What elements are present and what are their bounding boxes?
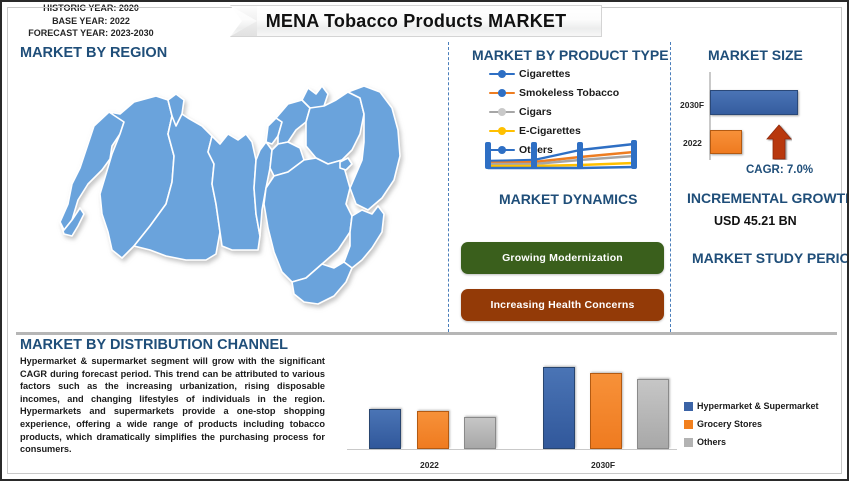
divider-vertical-right [670,42,671,332]
market-size-label-2022: 2022 [683,138,702,148]
legend-item: Hypermarket & Supermarket [684,401,849,411]
legend-marker-smokeless-tobacco-icon [489,87,515,99]
divider-horizontal [16,332,837,335]
distribution-channel-paragraph: Hypermarket & supermarket segment will g… [20,355,325,456]
legend-item: Cigarettes [489,65,649,82]
distribution-channel-bar-chart: 2022 2030F [347,352,677,474]
legend-label: Others [697,437,726,447]
market-by-distribution-channel-heading: MARKET BY DISTRIBUTION CHANNEL [20,337,288,353]
legend-marker-cigarettes-icon [489,68,515,80]
legend-swatch-hypermarket-icon [684,402,693,411]
bar-2030-hypermarket [543,367,575,449]
mena-region-map [16,64,436,326]
legend-label: E-Cigarettes [519,125,581,137]
legend-label: Cigars [519,106,552,118]
market-size-bar-2022 [710,130,742,154]
page-title: MENA Tobacco Products MARKET [230,5,602,37]
dynamics-restraint-badge[interactable]: Increasing Health Concerns [461,289,664,321]
distribution-channel-legend: Hypermarket & Supermarket Grocery Stores… [684,401,849,455]
legend-label: Smokeless Tobacco [519,87,619,99]
base-year: BASE YEAR: 2022 [2,15,180,28]
legend-item: Cigars [489,103,649,120]
dynamics-driver-badge[interactable]: Growing Modernization [461,242,664,274]
market-study-period-details: HISTORIC YEAR: 2020 BASE YEAR: 2022 FORE… [2,2,180,40]
legend-label: Hypermarket & Supermarket [697,401,819,411]
legend-item: E-Cigarettes [489,122,649,139]
bar-chart-xlabel-2030f: 2030F [591,460,615,470]
market-dynamics-heading: MARKET DYNAMICS [499,191,637,207]
market-size-heading: MARKET SIZE [708,47,803,63]
legend-marker-cigars-icon [489,106,515,118]
incremental-growth-value: USD 45.21 BN [714,214,797,228]
growth-arrow-icon [766,124,792,160]
market-size-chart: 2030F 2022 [680,68,848,178]
bar-2022-hypermarket [369,409,401,449]
legend-swatch-others-icon [684,438,693,447]
bar-2022-others [464,417,496,449]
legend-item: Smokeless Tobacco [489,84,649,101]
bar-chart-baseline [347,449,677,451]
legend-item: Grocery Stores [684,419,849,429]
bar-2030-others [637,379,669,449]
market-by-product-type-heading: MARKET BY PRODUCT TYPE [472,47,669,63]
legend-label: Grocery Stores [697,419,762,429]
bar-chart-xlabel-2022: 2022 [420,460,439,470]
bar-2022-grocery [417,411,449,449]
historic-year: HISTORIC YEAR: 2020 [2,2,180,15]
cagr-value: CAGR: 7.0% [746,164,813,176]
market-study-period-heading: MARKET STUDY PERIOD [692,250,849,266]
infographic-canvas: MENA Tobacco Products MARKET MARKET BY R… [0,0,849,481]
forecast-year: FORECAST YEAR: 2023-2030 [2,27,180,40]
legend-item: Others [684,437,849,447]
legend-marker-e-cigarettes-icon [489,125,515,137]
incremental-growth-heading: INCREMENTAL GROWTH [687,190,849,206]
legend-label: Cigarettes [519,68,570,80]
legend-swatch-grocery-icon [684,420,693,429]
market-by-region-heading: MARKET BY REGION [20,45,167,61]
product-type-line-chart [482,138,642,170]
bar-2030-grocery [590,373,622,449]
divider-vertical-left [448,42,449,332]
market-size-bar-2030 [710,90,798,115]
market-size-label-2030: 2030F [680,100,704,110]
title-banner: MENA Tobacco Products MARKET [230,5,602,37]
